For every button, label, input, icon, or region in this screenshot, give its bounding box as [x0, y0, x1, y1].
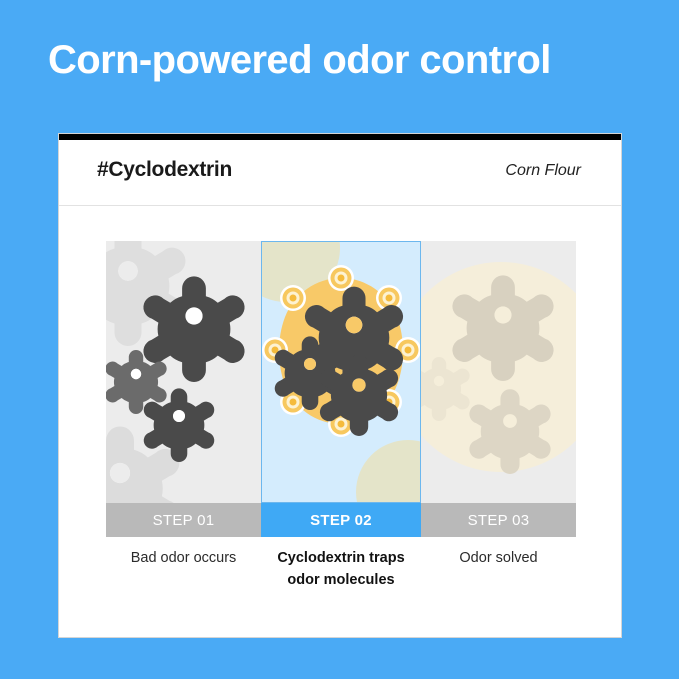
- step-bar: STEP 01 STEP 02 STEP 03: [106, 503, 576, 537]
- diagram-panels: [106, 241, 576, 503]
- panel-step-03[interactable]: [421, 241, 576, 503]
- info-card: #Cyclodextrin Corn Flour: [58, 133, 622, 638]
- page-title: Corn-powered odor control: [48, 38, 648, 82]
- card-header: #Cyclodextrin Corn Flour: [59, 140, 621, 206]
- step-label-01[interactable]: STEP 01: [106, 503, 261, 537]
- card-ingredient-label: Corn Flour: [505, 162, 581, 180]
- step-captions: Bad odor occurs Cyclodextrin traps odor …: [106, 547, 576, 592]
- panel-step-03-illustration: [421, 241, 576, 503]
- panel-step-01[interactable]: [106, 241, 261, 503]
- caption-step-02: Cyclodextrin traps odor molecules: [261, 547, 421, 592]
- caption-step-02-line-1: Cyclodextrin traps: [277, 550, 404, 566]
- panel-step-02[interactable]: [261, 241, 421, 503]
- caption-step-02-line-2: odor molecules: [287, 572, 394, 588]
- card-hashtag-title: #Cyclodextrin: [97, 158, 232, 182]
- step-label-03[interactable]: STEP 03: [421, 503, 576, 537]
- process-diagram: STEP 01 STEP 02 STEP 03 Bad odor occurs …: [106, 241, 576, 546]
- panel-step-02-illustration: [262, 242, 420, 502]
- caption-step-03: Odor solved: [421, 547, 576, 592]
- caption-step-01: Bad odor occurs: [106, 547, 261, 592]
- step-label-02[interactable]: STEP 02: [261, 503, 421, 537]
- panel-step-01-illustration: [106, 241, 261, 503]
